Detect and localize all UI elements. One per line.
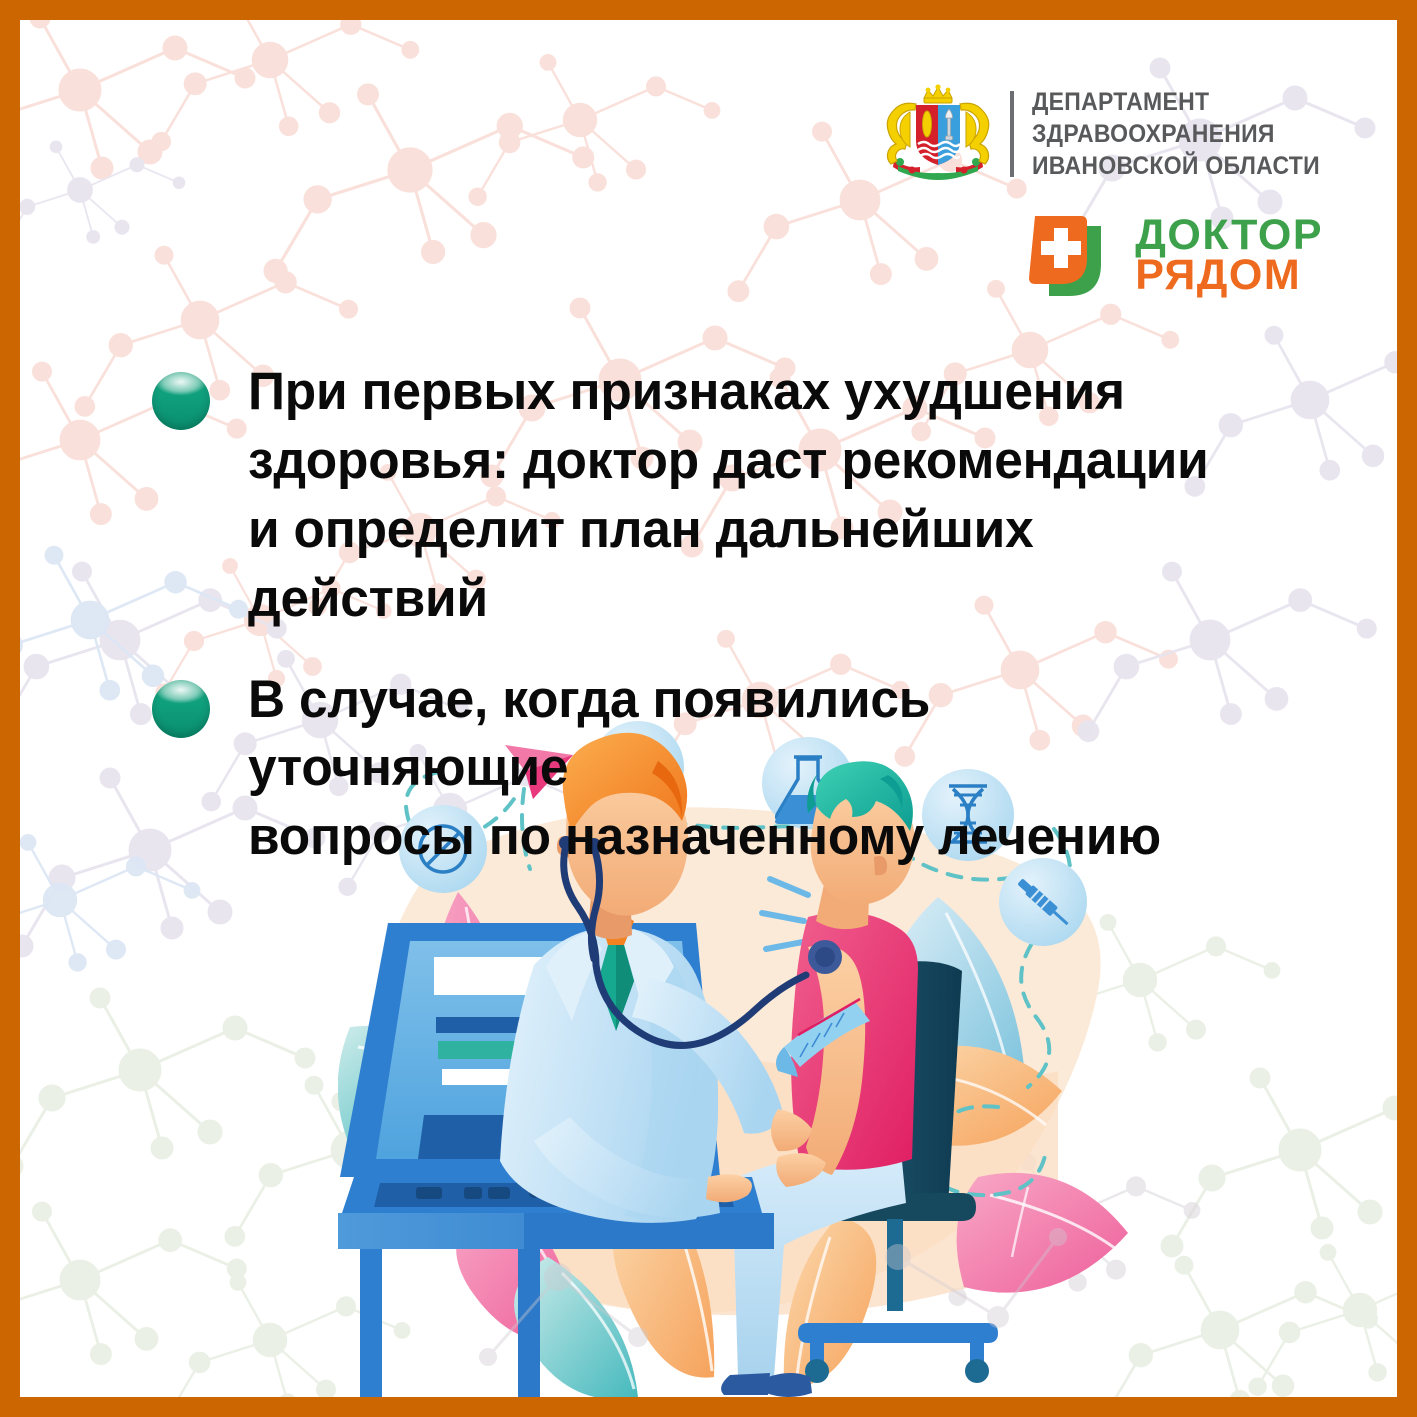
header-logos: ДЕПАРТАМЕНТ ЗДРАВООХРАНЕНИЯ ИВАНОВСКОЙ О… bbox=[880, 82, 1345, 300]
department-logo: ДЕПАРТАМЕНТ ЗДРАВООХРАНЕНИЯ ИВАНОВСКОЙ О… bbox=[880, 82, 1345, 186]
brand-logo: ДОКТОР РЯДОМ bbox=[1025, 212, 1323, 300]
brand-word-bottom: РЯДОМ bbox=[1135, 256, 1323, 296]
bullet-list: При первых признаках ухудшения здоровья:… bbox=[152, 358, 1292, 904]
bullet-item-1: При первых признаках ухудшения здоровья:… bbox=[152, 358, 1292, 634]
bullet-marker-icon bbox=[152, 680, 210, 738]
logo-divider bbox=[1010, 91, 1014, 177]
department-line-1: ДЕПАРТАМЕНТ bbox=[1032, 90, 1320, 115]
department-logo-text: ДЕПАРТАМЕНТ ЗДРАВООХРАНЕНИЯ ИВАНОВСКОЙ О… bbox=[1032, 90, 1345, 179]
brand-logo-words: ДОКТОР РЯДОМ bbox=[1135, 216, 1323, 295]
coat-of-arms-icon bbox=[880, 82, 996, 186]
bullet-marker-icon bbox=[152, 372, 210, 430]
bullet-item-2: В случае, когда появились уточняющие воп… bbox=[152, 666, 1292, 873]
department-line-2: ЗДРАВООХРАНЕНИЯ bbox=[1032, 122, 1320, 147]
bullet-text-2: В случае, когда появились уточняющие воп… bbox=[248, 666, 1261, 873]
department-line-3: ИВАНОВСКОЙ ОБЛАСТИ bbox=[1032, 154, 1320, 179]
bullet-text-1: При первых признаках ухудшения здоровья:… bbox=[248, 358, 1261, 634]
doktor-ryadom-mark-icon bbox=[1025, 212, 1117, 300]
poster-root: ДЕПАРТАМЕНТ ЗДРАВООХРАНЕНИЯ ИВАНОВСКОЙ О… bbox=[0, 0, 1417, 1417]
